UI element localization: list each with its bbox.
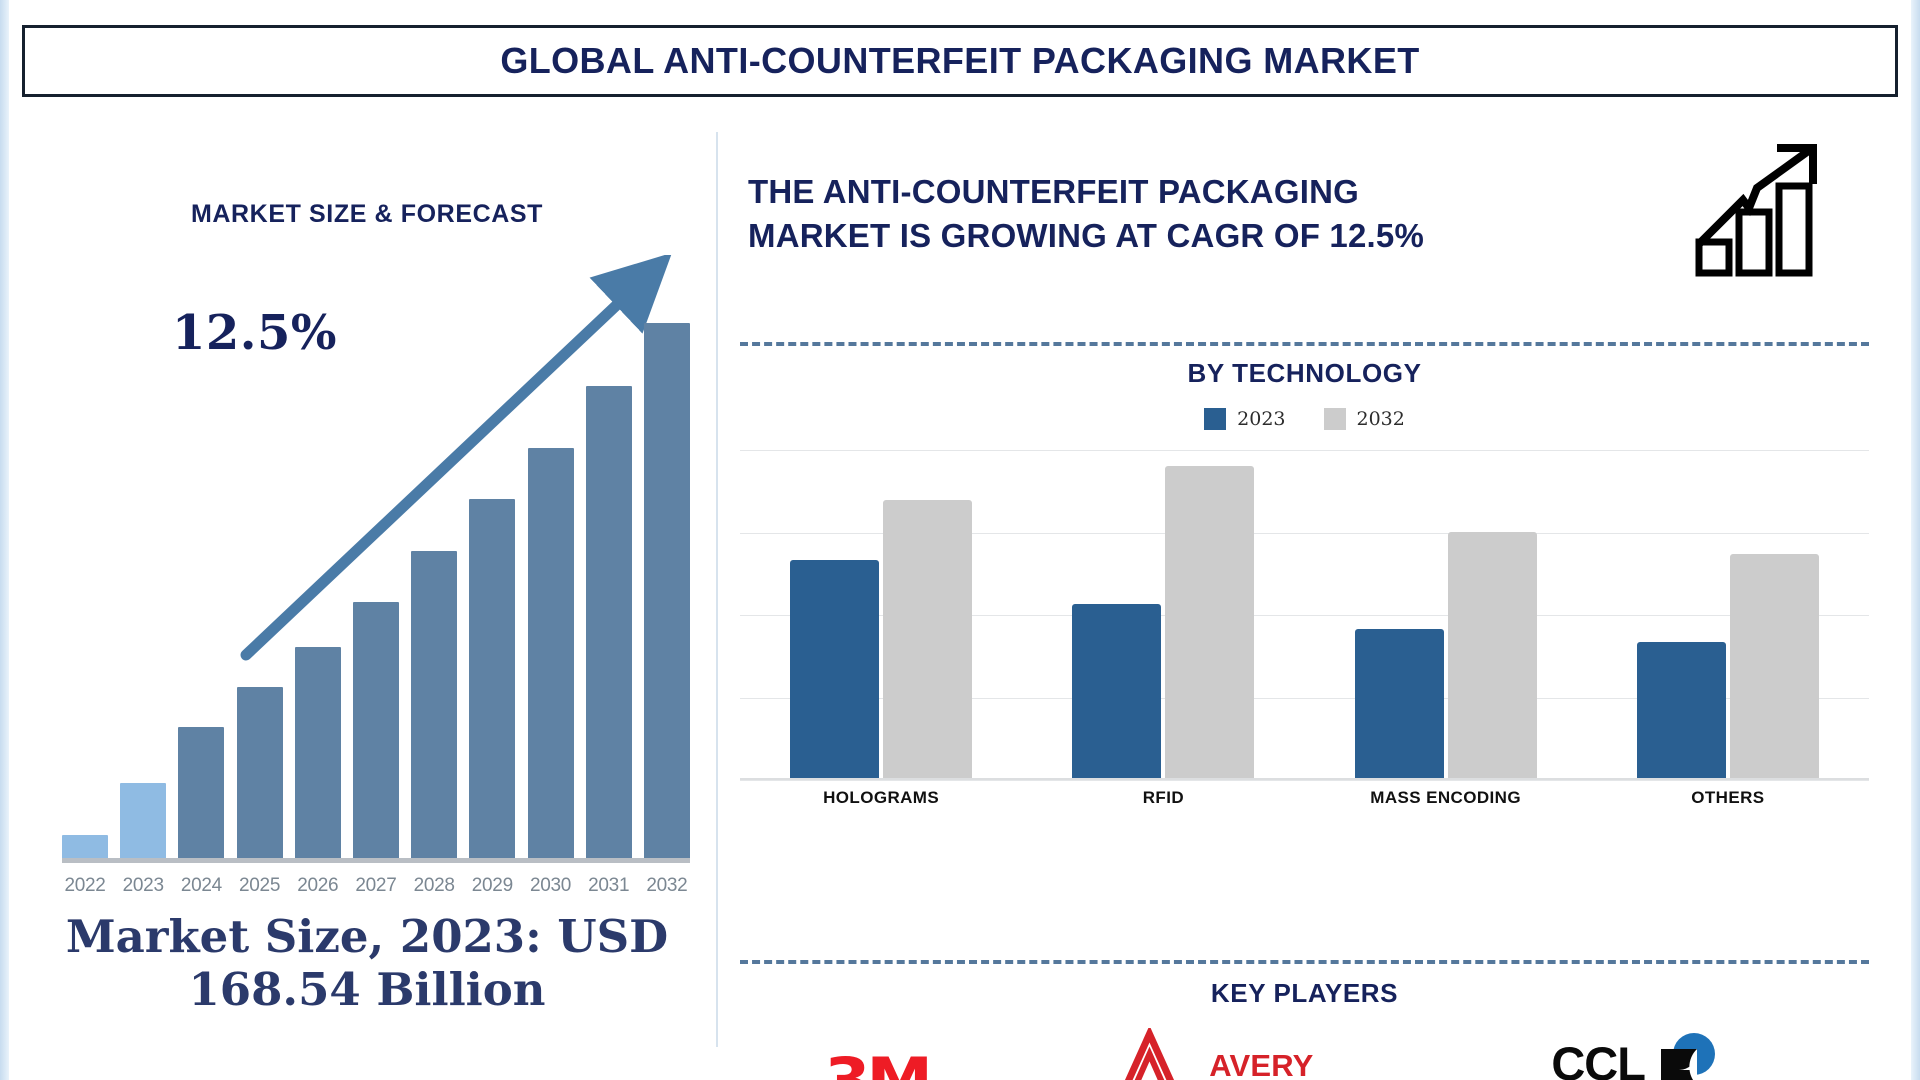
- technology-bar-chart: [740, 450, 1869, 780]
- category-label-mass-encoding: MASS ENCODING: [1316, 788, 1576, 808]
- market-size-bar: [237, 295, 283, 863]
- cagr-headline-line-1: THE ANTI-COUNTERFEIT PACKAGING: [748, 170, 1648, 214]
- year-label-2028: 2028: [411, 875, 457, 897]
- year-label-2032: 2032: [644, 875, 690, 897]
- bar-holograms-2032: [883, 500, 972, 780]
- bar-rfid-2023: [1072, 604, 1161, 780]
- left-edge-strip: [0, 0, 9, 1080]
- key-players-logos: 3M AVERY DENNISON: [740, 1020, 1869, 1080]
- bar-2026: [295, 647, 341, 863]
- bar-2030: [528, 448, 574, 863]
- year-label-2023: 2023: [120, 875, 166, 897]
- technology-category-labels: HOLOGRAMSRFIDMASS ENCODINGOTHERS: [740, 788, 1869, 808]
- ccl-mark-icon: [1655, 1032, 1717, 1080]
- bar-2032: [644, 323, 690, 863]
- category-label-holograms: HOLOGRAMS: [751, 788, 1011, 808]
- market-size-year-labels: 2022202320242025202620272028202920302031…: [46, 867, 706, 905]
- infographic-canvas: GLOBAL ANTI-COUNTERFEIT PACKAGING MARKET…: [0, 0, 1920, 1080]
- growth-bar-arrow-icon: [1695, 142, 1835, 277]
- key-player-ccl-healthcare: CCL Healthcare: [1551, 1025, 1780, 1080]
- bar-rfid-2032: [1165, 466, 1254, 780]
- legend-label-2032: 2032: [1357, 408, 1405, 430]
- bar-holograms-2023: [790, 560, 879, 780]
- market-size-bar: [644, 295, 690, 863]
- market-size-line-1: Market Size, 2023: USD: [22, 910, 712, 963]
- 3m-logo: 3M: [825, 1044, 930, 1080]
- key-players-title: KEY PLAYERS: [740, 978, 1869, 1009]
- market-size-bar: [353, 295, 399, 863]
- bar-group-others: [1598, 450, 1858, 780]
- bar-2024: [178, 727, 224, 863]
- divider-bottom: [740, 960, 1869, 964]
- market-size-bar: [411, 295, 457, 863]
- avery-triangle-icon: [1102, 1028, 1197, 1080]
- year-label-2029: 2029: [469, 875, 515, 897]
- year-label-2022: 2022: [62, 875, 108, 897]
- market-size-axis: [62, 858, 690, 863]
- year-label-2025: 2025: [237, 875, 283, 897]
- market-size-bars: [46, 295, 706, 863]
- avery-dennison-logo: AVERY DENNISON: [1102, 1028, 1374, 1080]
- year-label-2031: 2031: [586, 875, 632, 897]
- market-size-heading: MARKET SIZE & FORECAST: [22, 200, 712, 229]
- avery-line-1: AVERY: [1209, 1051, 1374, 1080]
- market-size-line-2: 168.54 Billion: [22, 963, 712, 1016]
- key-player-3m: 3M: [828, 1025, 925, 1080]
- market-size-bar-chart: 2022202320242025202620272028202920302031…: [46, 295, 706, 905]
- category-label-others: OTHERS: [1598, 788, 1858, 808]
- vertical-divider: [716, 132, 718, 1047]
- ccl-healthcare-logo: CCL Healthcare: [1551, 1032, 1780, 1080]
- year-label-2030: 2030: [528, 875, 574, 897]
- right-edge-strip: [1911, 0, 1920, 1080]
- market-size-bar: [295, 295, 341, 863]
- bar-mass-encoding-2032: [1448, 532, 1537, 780]
- divider-top: [740, 342, 1869, 346]
- technology-baseline: [740, 778, 1869, 780]
- market-size-bar: [528, 295, 574, 863]
- by-technology-title: BY TECHNOLOGY: [740, 358, 1869, 389]
- title-banner: GLOBAL ANTI-COUNTERFEIT PACKAGING MARKET: [22, 25, 1898, 97]
- legend-label-2023: 2023: [1237, 408, 1285, 430]
- market-size-bar: [120, 295, 166, 863]
- bar-2031: [586, 386, 632, 863]
- market-size-bar: [469, 295, 515, 863]
- bar-others-2023: [1637, 642, 1726, 780]
- right-panel: THE ANTI-COUNTERFEIT PACKAGING MARKET IS…: [740, 120, 1895, 1060]
- gridline: [740, 780, 1869, 781]
- bar-2029: [469, 499, 515, 863]
- market-size-bar: [178, 295, 224, 863]
- cagr-headline: THE ANTI-COUNTERFEIT PACKAGING MARKET IS…: [748, 170, 1648, 258]
- legend-swatch-2032: [1324, 408, 1346, 430]
- bar-group-holograms: [751, 450, 1011, 780]
- bar-2023: [120, 783, 166, 863]
- bar-mass-encoding-2023: [1355, 629, 1444, 780]
- legend-item-2023: 2023: [1204, 408, 1285, 430]
- year-label-2026: 2026: [295, 875, 341, 897]
- bar-others-2032: [1730, 554, 1819, 780]
- page-title: GLOBAL ANTI-COUNTERFEIT PACKAGING MARKET: [500, 40, 1419, 82]
- legend-swatch-2023: [1204, 408, 1226, 430]
- category-label-rfid: RFID: [1034, 788, 1294, 808]
- year-label-2027: 2027: [353, 875, 399, 897]
- ccl-wordmark: CCL: [1551, 1036, 1645, 1080]
- bar-group-rfid: [1034, 450, 1294, 780]
- cagr-headline-line-2: MARKET IS GROWING AT CAGR OF 12.5%: [748, 214, 1648, 258]
- technology-bars: [740, 450, 1869, 780]
- market-size-panel: MARKET SIZE & FORECAST 12.5% 20222023202…: [22, 120, 712, 1050]
- bar-group-mass-encoding: [1316, 450, 1576, 780]
- market-size-callout: Market Size, 2023: USD 168.54 Billion: [22, 910, 712, 1016]
- legend-item-2032: 2032: [1324, 408, 1405, 430]
- bar-2028: [411, 551, 457, 863]
- technology-legend: 20232032: [740, 408, 1869, 430]
- market-size-bar: [62, 295, 108, 863]
- bar-2025: [237, 687, 283, 863]
- bar-2027: [353, 602, 399, 863]
- year-label-2024: 2024: [178, 875, 224, 897]
- market-size-bar: [586, 295, 632, 863]
- key-player-avery-dennison: AVERY DENNISON: [1102, 1025, 1374, 1080]
